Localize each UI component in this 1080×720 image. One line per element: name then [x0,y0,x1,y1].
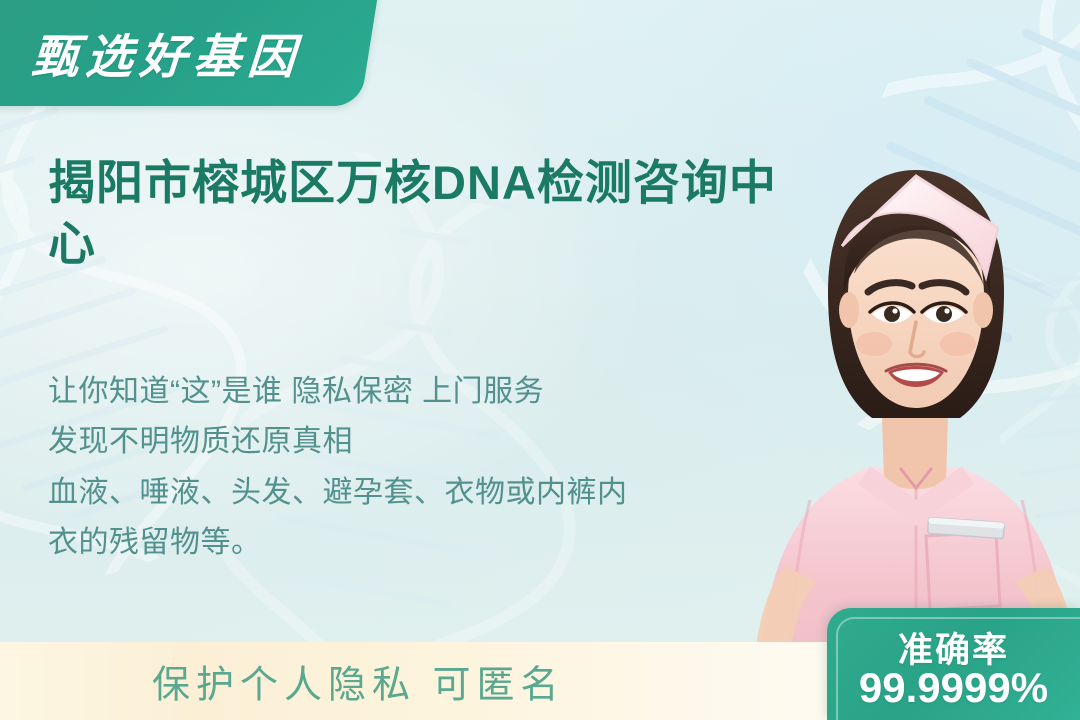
brand-ribbon: 甄选好基因 [0,0,380,106]
accuracy-badge-value: 99.9999% [827,664,1080,712]
accuracy-badge: 准确率 99.9999% [827,608,1080,720]
body-line-3: 血液、唾液、头发、避孕套、衣物或内裤内 [48,468,768,518]
footer-tagline: 保护个人隐私 可匿名 [152,654,565,709]
name-badge [928,517,1005,538]
body-line-1: 让你知道“这”是谁 隐私保密 上门服务 [48,367,768,417]
copy-block: 揭阳市榕城区万核DNA检测咨询中心 让你知道“这”是谁 隐私保密 上门服务 发现… [48,152,838,274]
body-line-2: 发现不明物质还原真相 [48,417,768,467]
dna-helix-watermark-far-right [977,249,1080,611]
brand-ribbon-label: 甄选好基因 [30,18,305,87]
page-title: 揭阳市榕城区万核DNA检测咨询中心 [48,152,818,274]
promo-banner: 甄选好基因 [0,0,1080,720]
body-copy: 让你知道“这”是谁 隐私保密 上门服务 发现不明物质还原真相 血液、唾液、头发、… [48,367,768,569]
body-line-4: 衣的残留物等。 [48,518,768,568]
